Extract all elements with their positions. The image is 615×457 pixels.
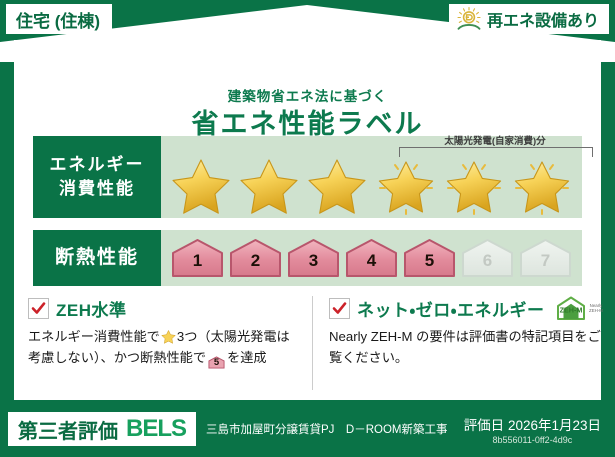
insulation-level-badge: 2 <box>228 238 283 278</box>
energy-performance-label: エネルギー 消費性能 <box>33 136 161 218</box>
star-icon <box>306 155 368 215</box>
insulation-rating-area: 1 2 3 4 <box>161 230 582 286</box>
insulation-level-badge: 3 <box>286 238 341 278</box>
star-icon <box>161 329 176 344</box>
star-icon <box>375 155 437 215</box>
renewable-equipment-chip: 再エネ設備あり <box>449 4 609 34</box>
net-zero-energy-block: ネット・ゼロ・エネルギー ZEH-M Nearly ZEH-M Nearly Z… <box>312 296 615 390</box>
insulation-label-text: 断熱性能 <box>55 246 139 270</box>
bels-jp-label: 第三者評価 <box>18 415 118 444</box>
zeh-desc-star-count: 3つ（太陽光発電 <box>177 329 277 344</box>
insulation-level-badge: 7 <box>518 238 573 278</box>
net-zero-energy-description: Nearly ZEH-M の要件は評価書の特記項目をご覧ください。 <box>329 326 606 368</box>
energy-label-line-1: エネルギー <box>50 153 145 177</box>
checkmark-icon <box>329 298 350 319</box>
insulation-level-number: 7 <box>541 247 550 278</box>
star-rating-item-solar <box>511 155 573 215</box>
svg-text:ZEH-M: ZEH-M <box>559 305 582 314</box>
insulation-level-number: 4 <box>367 247 376 278</box>
building-type-label: 住宅 (住棟) <box>16 7 100 32</box>
svg-text:ZEH-M: ZEH-M <box>589 308 603 313</box>
insulation-level-badge: 5 <box>402 238 457 278</box>
zeh-standard-title: ZEH水準 <box>56 296 127 321</box>
building-type-chip: 住宅 (住棟) <box>6 4 112 34</box>
star-icon <box>443 155 505 215</box>
energy-label-line-2: 消費性能 <box>59 177 135 201</box>
insulation-level-number: 1 <box>193 247 202 278</box>
star-rating-item <box>238 155 300 215</box>
zeh-standard-block: ZEH水準 エネルギー消費性能で3つ（太陽光発電は考慮しない）、かつ断熱性能で5… <box>20 296 312 390</box>
insulation-level-badge: 4 <box>344 238 399 278</box>
zeh-desc-part-1: エネルギー消費性能で <box>28 329 160 344</box>
energy-performance-row: エネルギー 消費性能 太陽光発電(自家消費)分 <box>33 136 582 218</box>
star-rating-group <box>161 154 582 216</box>
checkmark-icon <box>28 298 49 319</box>
star-icon <box>238 155 300 215</box>
title-subtitle: 建築物省エネ法に基づく <box>14 88 601 106</box>
star-rating-item <box>306 155 368 215</box>
evaluation-info: 評価日 2026年1月23日 8b556011-0ff2-4d9c <box>464 414 601 445</box>
house-badge-icon: 5 <box>208 355 225 370</box>
solar-annotation-label: 太陽光発電(自家消費)分 <box>395 133 595 147</box>
insulation-level-number: 2 <box>251 247 260 278</box>
bels-certification-badge: 第三者評価 BELS <box>8 412 196 446</box>
zeh-m-house-logo: ZEH-M Nearly ZEH-M <box>554 295 606 321</box>
sun-solar-icon <box>455 6 483 32</box>
solar-generation-annotation: 太陽光発電(自家消費)分 <box>395 134 595 156</box>
zeh-desc-badge-number: 5 <box>208 355 225 371</box>
evaluation-date: 評価日 2026年1月23日 <box>464 414 601 434</box>
zeh-standard-heading: ZEH水準 <box>28 296 300 320</box>
star-rating-item <box>170 155 232 215</box>
insulation-performance-label: 断熱性能 <box>33 230 161 286</box>
insulation-level-group: 1 2 3 4 <box>161 230 582 286</box>
insulation-level-badge: 1 <box>170 238 225 278</box>
energy-label-root: 住宅 (住棟) 再エネ設備あり 建築物省エネ法に基づく 省エネ性 <box>0 0 615 457</box>
project-name: 三島市加屋町分譲賃貸PJ D－ROOM新築工事 <box>206 421 448 437</box>
star-icon <box>170 155 232 215</box>
star-rating-item-solar <box>375 155 437 215</box>
insulation-level-number: 5 <box>425 247 434 278</box>
energy-rating-area: 太陽光発電(自家消費)分 <box>161 136 582 218</box>
evaluation-id: 8b556011-0ff2-4d9c <box>464 435 601 445</box>
renewable-equipment-label: 再エネ設備あり <box>487 7 599 31</box>
zeh-standard-description: エネルギー消費性能で3つ（太陽光発電は考慮しない）、かつ断熱性能で5を達成 <box>28 326 300 370</box>
insulation-level-number: 6 <box>483 247 492 278</box>
net-zero-energy-heading: ネット・ゼロ・エネルギー ZEH-M Nearly ZEH-M <box>329 296 606 320</box>
star-icon <box>511 155 573 215</box>
footer-bar: 第三者評価 BELS 三島市加屋町分譲賃貸PJ D－ROOM新築工事 評価日 2… <box>0 401 615 457</box>
insulation-level-badge: 6 <box>460 238 515 278</box>
insulation-performance-row: 断熱性能 1 <box>33 230 582 286</box>
zeh-desc-part-3: を達成 <box>227 350 267 365</box>
bels-en-label: BELS <box>126 415 186 443</box>
criteria-columns: ZEH水準 エネルギー消費性能で3つ（太陽光発電は考慮しない）、かつ断熱性能で5… <box>20 296 580 390</box>
insulation-level-number: 3 <box>309 247 318 278</box>
net-zero-energy-title: ネット・ゼロ・エネルギー <box>357 296 545 321</box>
star-rating-item-solar <box>443 155 505 215</box>
